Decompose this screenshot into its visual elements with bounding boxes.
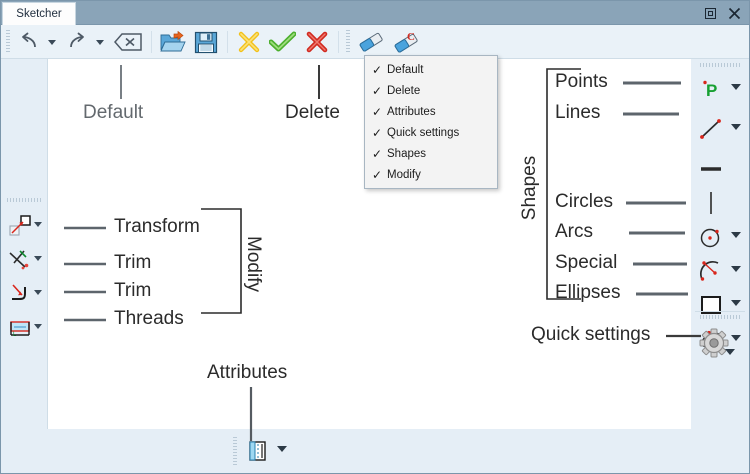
toolbar-divider bbox=[695, 311, 745, 312]
svg-text:C: C bbox=[407, 31, 415, 43]
annotation-lines: Lines bbox=[555, 102, 600, 124]
shapes-toolbar-grip[interactable] bbox=[700, 63, 740, 67]
point-p-icon[interactable]: P bbox=[695, 73, 727, 105]
toolbar-separator bbox=[151, 31, 152, 53]
quick-settings-toolbar-grip[interactable] bbox=[700, 315, 740, 319]
annotation-quick-settings: Quick settings bbox=[531, 324, 650, 346]
point-dropdown-icon[interactable] bbox=[731, 84, 741, 90]
annotation-trim-2: Trim bbox=[114, 280, 151, 302]
fillet-icon[interactable] bbox=[5, 279, 35, 309]
annotation-delete: Delete bbox=[285, 102, 340, 124]
floppy-disk-icon[interactable] bbox=[191, 29, 221, 55]
menu-item-modify[interactable]: ✓ Modify bbox=[365, 164, 497, 185]
menu-item-label: Shapes bbox=[387, 148, 426, 160]
check-icon: ✓ bbox=[367, 63, 387, 77]
toolbar-separator bbox=[227, 31, 228, 53]
shapes-toolbar: P bbox=[691, 59, 749, 474]
menu-item-label: Delete bbox=[387, 85, 420, 97]
annotation-default: Default bbox=[83, 102, 143, 124]
fillet-dropdown-icon[interactable] bbox=[34, 290, 42, 295]
circle-dropdown-icon[interactable] bbox=[731, 232, 741, 238]
attributes-dropdown-icon[interactable] bbox=[277, 446, 287, 452]
menu-item-label: Attributes bbox=[387, 106, 436, 118]
undo-button[interactable] bbox=[15, 29, 43, 55]
annotation-threads: Threads bbox=[114, 308, 184, 330]
vertical-line-icon[interactable] bbox=[695, 187, 727, 219]
annotation-shapes-group: Shapes bbox=[519, 156, 541, 220]
annotation-circles: Circles bbox=[555, 191, 613, 213]
annotation-modify-group: Modify bbox=[242, 236, 264, 292]
toolbar-visibility-menu[interactable]: ✓ Default ✓ Delete ✓ Attributes ✓ Quick … bbox=[364, 55, 498, 189]
quick-settings-dropdown-icon[interactable] bbox=[725, 349, 735, 355]
threads-icon[interactable]: L bbox=[5, 313, 35, 343]
transform-icon[interactable] bbox=[5, 211, 35, 241]
undo-dropdown-button[interactable] bbox=[44, 29, 60, 55]
eraser-constraint-icon[interactable]: C bbox=[389, 29, 423, 55]
menu-item-attributes[interactable]: ✓ Attributes bbox=[365, 101, 497, 122]
svg-text:P: P bbox=[706, 81, 717, 100]
toolbar-grip[interactable] bbox=[346, 30, 350, 54]
check-icon: ✓ bbox=[367, 126, 387, 140]
redo-dropdown-button[interactable] bbox=[92, 29, 108, 55]
annotation-ellipses: Ellipses bbox=[555, 282, 620, 304]
line-icon[interactable] bbox=[695, 113, 727, 145]
toolbar-separator bbox=[338, 31, 339, 53]
check-icon: ✓ bbox=[367, 147, 387, 161]
redo-button[interactable] bbox=[63, 29, 91, 55]
arc-icon[interactable] bbox=[695, 255, 727, 287]
annotation-special: Special bbox=[555, 252, 617, 274]
attributes-toolbar bbox=[47, 429, 693, 473]
title-bar: Sketcher bbox=[1, 1, 750, 25]
check-icon: ✓ bbox=[367, 84, 387, 98]
arc-dropdown-icon[interactable] bbox=[731, 266, 741, 272]
red-cross-icon[interactable] bbox=[302, 29, 332, 55]
line-dropdown-icon[interactable] bbox=[731, 124, 741, 130]
transform-dropdown-icon[interactable] bbox=[34, 222, 42, 227]
trim-icon[interactable] bbox=[5, 245, 35, 275]
close-window-icon[interactable] bbox=[725, 4, 743, 22]
check-icon: ✓ bbox=[367, 105, 387, 119]
attributes-icon[interactable] bbox=[243, 436, 273, 466]
tab-sketcher[interactable]: Sketcher bbox=[2, 2, 76, 25]
menu-item-delete[interactable]: ✓ Delete bbox=[365, 80, 497, 101]
horizontal-line-icon[interactable] bbox=[695, 153, 727, 185]
menu-item-quick-settings[interactable]: ✓ Quick settings bbox=[365, 122, 497, 143]
tab-label: Sketcher bbox=[16, 8, 61, 20]
open-folder-icon[interactable] bbox=[158, 29, 188, 55]
eraser-icon[interactable] bbox=[355, 29, 387, 55]
delete-button[interactable] bbox=[111, 29, 145, 55]
main-toolbar: C bbox=[1, 25, 750, 59]
attributes-toolbar-grip[interactable] bbox=[233, 437, 237, 465]
threads-dropdown-icon[interactable] bbox=[34, 324, 42, 329]
circle-icon[interactable] bbox=[695, 221, 727, 253]
menu-item-shapes[interactable]: ✓ Shapes bbox=[365, 143, 497, 164]
menu-item-label: Default bbox=[387, 64, 423, 76]
annotation-points: Points bbox=[555, 71, 608, 93]
annotation-attributes: Attributes bbox=[207, 362, 287, 384]
yellow-cross-icon[interactable] bbox=[234, 29, 264, 55]
green-check-icon[interactable] bbox=[266, 29, 298, 55]
restore-window-icon[interactable] bbox=[701, 4, 719, 22]
modify-toolbar-grip[interactable] bbox=[7, 198, 41, 202]
trim-dropdown-icon[interactable] bbox=[34, 256, 42, 261]
sketcher-window: Sketcher bbox=[0, 0, 750, 474]
chevron-down-icon bbox=[48, 40, 56, 45]
check-icon: ✓ bbox=[367, 168, 387, 182]
menu-item-label: Modify bbox=[387, 169, 421, 181]
rectangle-dropdown-icon[interactable] bbox=[731, 300, 741, 306]
annotation-arcs: Arcs bbox=[555, 221, 593, 243]
menu-item-default[interactable]: ✓ Default bbox=[365, 59, 497, 80]
annotation-transform: Transform bbox=[114, 216, 200, 238]
annotation-trim-1: Trim bbox=[114, 252, 151, 274]
menu-item-label: Quick settings bbox=[387, 127, 459, 139]
toolbar-grip[interactable] bbox=[6, 30, 10, 54]
modify-toolbar: L bbox=[1, 59, 47, 474]
chevron-down-icon bbox=[96, 40, 104, 45]
